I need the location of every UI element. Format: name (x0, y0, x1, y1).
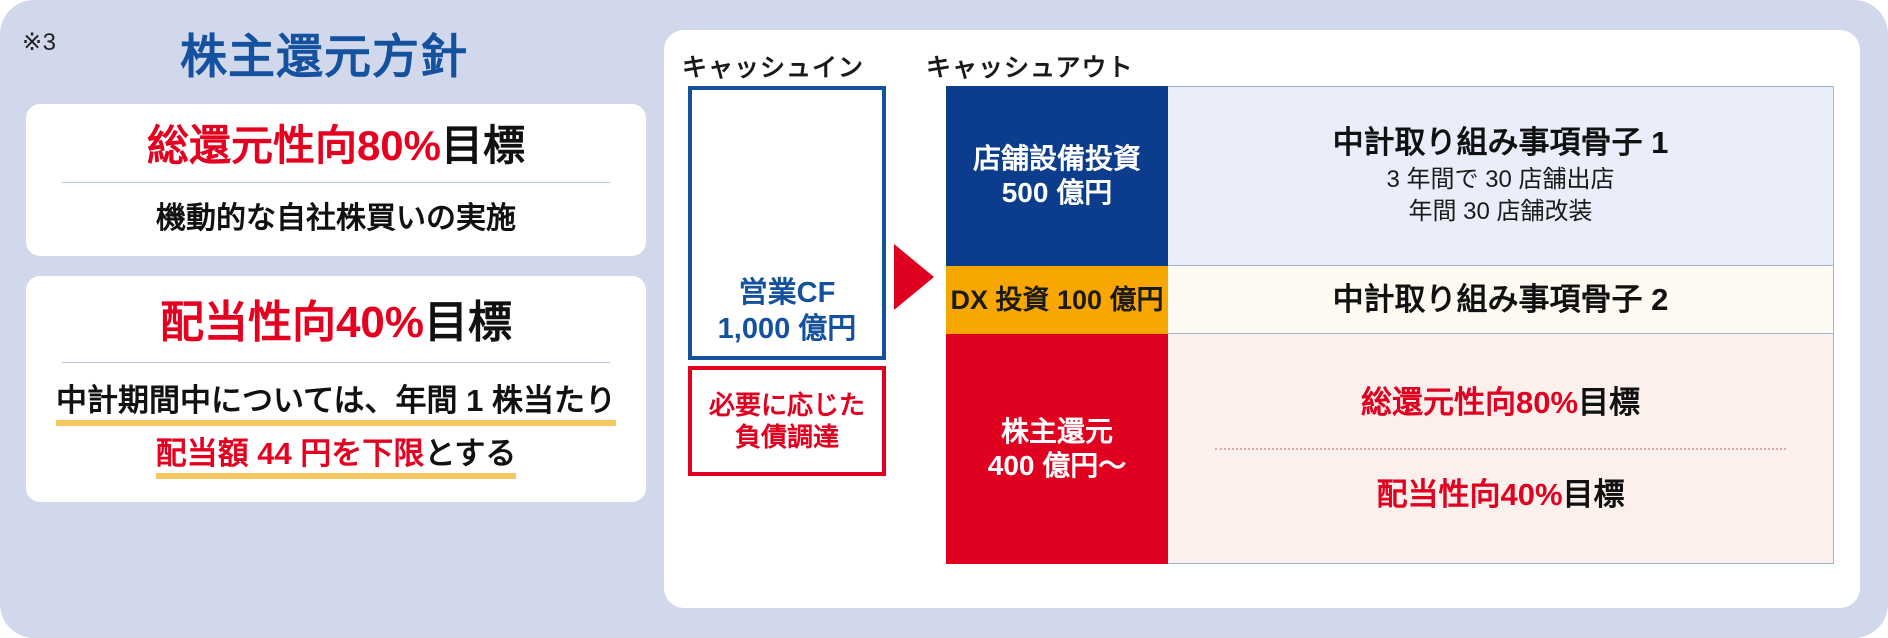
operating-cf-name: 営業CF (718, 276, 857, 312)
capex-detail-cell: 中計取り組み事項骨子 1 3 年間で 30 店舗出店 年間 30 店舗改装 (1168, 86, 1834, 266)
total-return-ratio-suffix: 目標 (441, 122, 525, 169)
capex-amount: 500 億円 (973, 176, 1141, 210)
capex-detail-line-1: 3 年間で 30 店舗出店 (1386, 164, 1614, 196)
dividend-floor-suffix: とする (424, 436, 516, 471)
dividend-floor-amount: 配当額 44 円を下限 (156, 436, 425, 471)
cash-out-table: 店舗設備投資 500 億円 中計取り組み事項骨子 1 3 年間で 30 店舗出店… (946, 86, 1834, 564)
dx-detail-title: 中計取り組み事項骨子 2 (1333, 281, 1669, 318)
shareholder-return-policy-panel: ※3 株主還元方針 総還元性向80%目標 機動的な自社株買いの実施 配当性向40… (0, 0, 660, 638)
dividend-payout-target-suffix: 目標 (1563, 477, 1625, 512)
dividend-floor-line-1: 中計期間中については、年間 1 株当たり (56, 379, 616, 426)
table-row: 店舗設備投資 500 億円 中計取り組み事項骨子 1 3 年間で 30 店舗出店… (946, 86, 1834, 266)
dividend-payout-value: 配当性向40% (160, 298, 424, 347)
total-return-ratio-value: 総還元性向80% (147, 122, 441, 169)
total-return-target-suffix: 目標 (1578, 385, 1640, 420)
cash-allocation-panel: キャッシュイン キャッシュアウト 営業CF 1,000 億円 必要に応じた 負債… (664, 30, 1860, 608)
total-return-target-value: 総還元性向80% (1361, 385, 1578, 420)
table-row: DX 投資 100 億円 中計取り組み事項骨子 2 (946, 266, 1834, 334)
capex-detail-line-2: 年間 30 店舗改装 (1408, 196, 1592, 228)
capex-detail-title: 中計取り組み事項骨子 1 (1333, 124, 1669, 161)
card-divider (62, 362, 610, 363)
table-row: 株主還元 400 億円～ 総還元性向80%目標 配当性向40%目標 (946, 334, 1834, 564)
total-return-target: 総還元性向80%目標 (1361, 384, 1640, 421)
dividend-payout-target-value: 配当性向40% (1376, 477, 1562, 512)
shareholder-return-name: 株主還元 (988, 415, 1127, 449)
cash-out-label: キャッシュアウト (926, 48, 1134, 84)
operating-cf-text: 営業CF 1,000 億円 (718, 276, 857, 348)
shareholder-return-category-cell: 株主還元 400 億円～ (946, 334, 1168, 564)
total-return-ratio-card: 総還元性向80%目標 機動的な自社株買いの実施 (26, 104, 646, 256)
debt-financing-line-1: 必要に応じた (709, 389, 865, 422)
shareholder-return-amount: 400 億円～ (988, 449, 1127, 483)
dividend-payout-suffix: 目標 (424, 298, 512, 347)
dividend-payout-target: 配当性向40%目標 (1376, 476, 1624, 513)
target-divider (1215, 448, 1787, 450)
dividend-payout-ratio-card: 配当性向40%目標 中計期間中については、年間 1 株当たり 配当額 44 円を… (26, 276, 646, 502)
debt-financing-text: 必要に応じた 負債調達 (709, 389, 865, 454)
operating-cf-box: 営業CF 1,000 億円 (688, 86, 886, 360)
capex-category-name: 店舗設備投資 (973, 142, 1141, 176)
operating-cf-amount: 1,000 億円 (718, 312, 857, 348)
dx-detail-cell: 中計取り組み事項骨子 2 (1168, 266, 1834, 334)
buyback-subtext: 機動的な自社株買いの実施 (156, 193, 516, 237)
total-return-ratio-headline: 総還元性向80%目標 (147, 123, 525, 169)
flow-arrow-right-icon (894, 244, 934, 310)
dividend-floor-line-2: 配当額 44 円を下限とする (156, 432, 517, 479)
debt-financing-line-2: 負債調達 (709, 421, 865, 454)
dividend-payout-headline: 配当性向40%目標 (160, 299, 512, 347)
capex-category-cell: 店舗設備投資 500 億円 (946, 86, 1168, 266)
cash-in-label: キャッシュイン (682, 48, 864, 84)
debt-financing-box: 必要に応じた 負債調達 (688, 366, 886, 476)
page-title: 株主還元方針 (0, 18, 648, 87)
shareholder-return-detail-cell: 総還元性向80%目標 配当性向40%目標 (1168, 334, 1834, 564)
slide-root: ※3 株主還元方針 総還元性向80%目標 機動的な自社株買いの実施 配当性向40… (0, 0, 1888, 638)
card-divider (62, 182, 610, 183)
dx-category-cell: DX 投資 100 億円 (946, 266, 1168, 334)
